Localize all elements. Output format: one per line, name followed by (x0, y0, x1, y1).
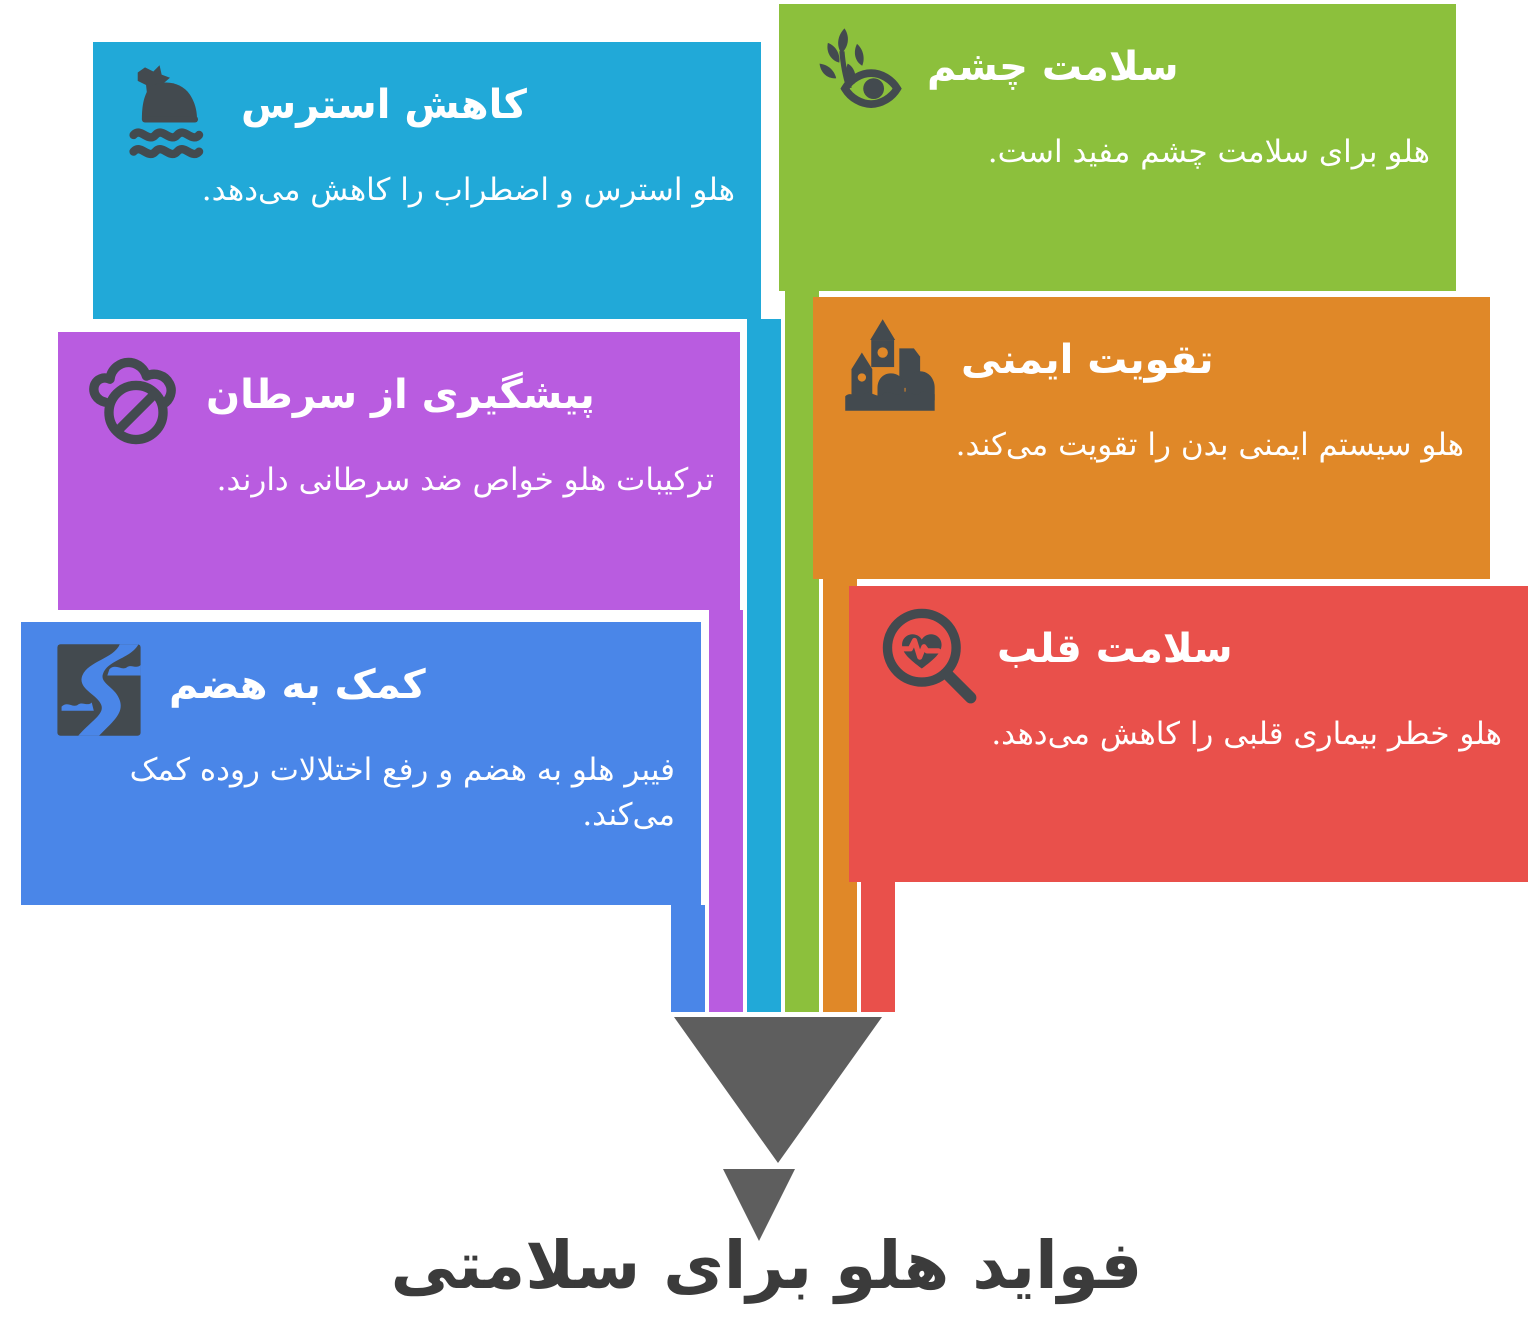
panel-immunity-desc: هلو سیستم ایمنی بدن را تقویت می‌کند. (839, 423, 1464, 468)
panel-cancer-header: پیشگیری از سرطان (84, 348, 714, 452)
page-title: فواید هلو برای سلامتی (0, 1228, 1533, 1304)
panel-eye-header: سلامت چشم (805, 20, 1430, 124)
panel-heart-title: سلامت قلب (997, 626, 1233, 672)
panel-eye-health[interactable]: سلامت چشم هلو برای سلامت چشم مفید است. (779, 4, 1456, 291)
panel-stress-reduction[interactable]: کاهش استرس هلو استرس و اضطراب را کاهش می… (93, 42, 761, 319)
panel-stress-title: کاهش استرس (241, 82, 527, 128)
panel-digestion-header: کمک به هضم (47, 638, 675, 742)
panel-immunity-boost[interactable]: تقویت ایمنی هلو سیستم ایمنی بدن را تقویت… (813, 297, 1490, 579)
panel-cancer-desc: ترکیبات هلو خواص ضد سرطانی دارند. (84, 458, 714, 503)
panel-cancer-prevention[interactable]: پیشگیری از سرطان ترکیبات هلو خواص ضد سرط… (58, 332, 740, 610)
panel-eye-desc: هلو برای سلامت چشم مفید است. (805, 130, 1430, 175)
panel-digestion-desc: فیبر هلو به هضم و رفع اختلالات روده کمک … (47, 748, 675, 838)
panel-stress-header: کاهش استرس (119, 58, 735, 162)
panel-eye-title: سلامت چشم (927, 44, 1179, 90)
panel-heart-desc: هلو خطر بیماری قلبی را کاهش می‌دهد. (875, 712, 1502, 757)
cell-blocked-icon (84, 348, 188, 452)
stem-cancer (709, 610, 743, 1012)
castle-fortress-icon (839, 313, 943, 417)
panel-heart-header: سلامت قلب (875, 602, 1502, 706)
panel-stress-desc: هلو استرس و اضطراب را کاهش می‌دهد. (119, 168, 735, 213)
winding-river-icon (47, 638, 151, 742)
eye-leaf-icon (805, 20, 909, 124)
panel-heart-health[interactable]: سلامت قلب هلو خطر بیماری قلبی را کاهش می… (849, 586, 1528, 882)
spa-stones-waves-icon (119, 58, 223, 162)
panel-cancer-title: پیشگیری از سرطان (206, 372, 595, 418)
stem-digestion (671, 905, 705, 1012)
stem-heart (861, 882, 895, 1012)
infographic-canvas: سلامت چشم هلو برای سلامت چشم مفید است. (0, 0, 1533, 1329)
panel-digestion-title: کمک به هضم (169, 662, 426, 708)
panel-digestion-aid[interactable]: کمک به هضم فیبر هلو به هضم و رفع اختلالا… (21, 622, 701, 905)
panel-immunity-header: تقویت ایمنی (839, 313, 1464, 417)
panel-immunity-title: تقویت ایمنی (961, 337, 1214, 383)
funnel-arrow-body (674, 1017, 882, 1163)
stem-stress (747, 319, 781, 1012)
heart-pulse-magnifier-icon (875, 602, 979, 706)
